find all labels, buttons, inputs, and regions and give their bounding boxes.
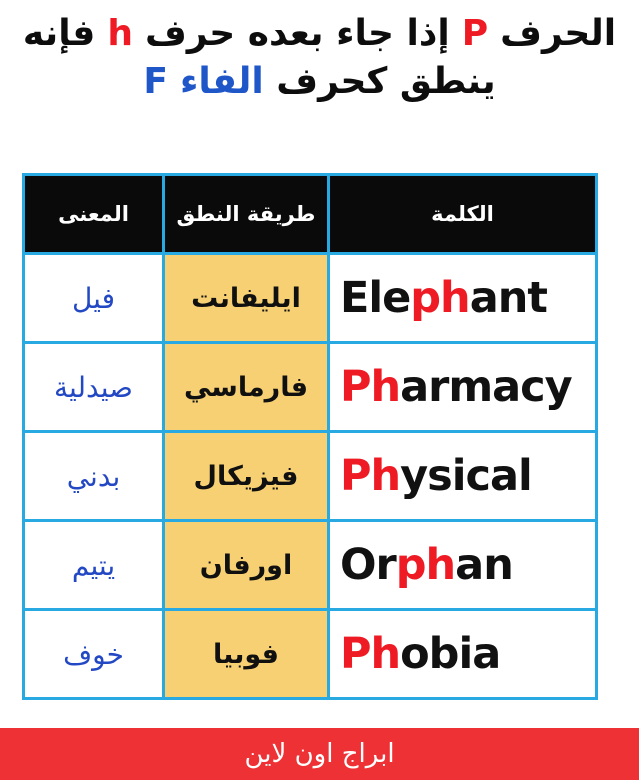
cell-word: Phobia <box>329 610 597 699</box>
column-header-meaning: المعنى <box>24 175 164 254</box>
footer-banner: ابراج اون لاين <box>0 728 639 780</box>
vocabulary-table-container: الكلمة طريقة النطق المعنى Elephantايليفا… <box>25 173 598 700</box>
table-row: Physicalفيزيكالبدني <box>24 432 597 521</box>
word-segment: ant <box>470 273 547 323</box>
footer-brand-text: ابراج اون لاين <box>244 739 394 769</box>
cell-pronunciation: فارماسي <box>164 343 329 432</box>
word-segment: Or <box>340 540 396 590</box>
title-line-1-text-4: فإنه <box>23 13 107 54</box>
title-line-1-highlight-letter-3: h <box>107 13 132 54</box>
title-line-2-highlight-letter-3: F <box>143 61 167 102</box>
table-row: Pharmacyفارماسيصيدلية <box>24 343 597 432</box>
title-line-1-text-2: إذا جاء بعده حرف <box>132 13 461 54</box>
word-segment: Ele <box>340 273 410 323</box>
word-segment: armacy <box>400 362 572 412</box>
word-segment-highlight: ph <box>410 273 469 323</box>
title-line-2-text-2 <box>167 61 180 102</box>
table-row: Phobiaفوبياخوف <box>24 610 597 699</box>
title-line-1-text-0: الحرف <box>488 13 617 54</box>
column-header-pronunciation: طريقة النطق <box>164 175 329 254</box>
word-segment-highlight: Ph <box>340 451 400 501</box>
word-segment: ysical <box>400 451 532 501</box>
title-line-2: ينطق كحرف الفاء F <box>0 56 639 108</box>
cell-meaning: صيدلية <box>24 343 164 432</box>
table-body: ElephantايليفانتفيلPharmacyفارماسيصيدلية… <box>24 254 597 699</box>
column-header-word: الكلمة <box>329 175 597 254</box>
cell-meaning: خوف <box>24 610 164 699</box>
title-line-2-highlight-word-1: الفاء <box>180 61 264 102</box>
table-row: Elephantايليفانتفيل <box>24 254 597 343</box>
title-line-2-text-0: ينطق كحرف <box>264 61 496 102</box>
word-segment: obia <box>400 629 500 679</box>
cell-meaning: بدني <box>24 432 164 521</box>
word-segment-highlight: Ph <box>340 362 400 412</box>
english-word: Orphan <box>330 540 595 590</box>
title-line-1-highlight-letter-1: P <box>462 13 488 54</box>
infographic-title: الحرف P إذا جاء بعده حرف h فإنه ينطق كحر… <box>0 0 639 108</box>
word-segment-highlight: Ph <box>340 629 400 679</box>
word-segment-highlight: ph <box>396 540 455 590</box>
cell-pronunciation: فوبيا <box>164 610 329 699</box>
english-word: Physical <box>330 451 595 501</box>
word-segment: an <box>455 540 513 590</box>
vocabulary-table: الكلمة طريقة النطق المعنى Elephantايليفا… <box>22 173 598 700</box>
english-word: Pharmacy <box>330 362 595 412</box>
cell-pronunciation: ايليفانت <box>164 254 329 343</box>
table-header: الكلمة طريقة النطق المعنى <box>24 175 597 254</box>
cell-word: Pharmacy <box>329 343 597 432</box>
cell-meaning: يتيم <box>24 521 164 610</box>
cell-meaning: فيل <box>24 254 164 343</box>
cell-word: Physical <box>329 432 597 521</box>
title-line-1: الحرف P إذا جاء بعده حرف h فإنه <box>0 8 639 60</box>
english-word: Elephant <box>330 273 595 323</box>
cell-word: Elephant <box>329 254 597 343</box>
cell-pronunciation: اورفان <box>164 521 329 610</box>
cell-pronunciation: فيزيكال <box>164 432 329 521</box>
english-word: Phobia <box>330 629 595 679</box>
table-row: Orphanاورفانيتيم <box>24 521 597 610</box>
table-header-row: الكلمة طريقة النطق المعنى <box>24 175 597 254</box>
cell-word: Orphan <box>329 521 597 610</box>
